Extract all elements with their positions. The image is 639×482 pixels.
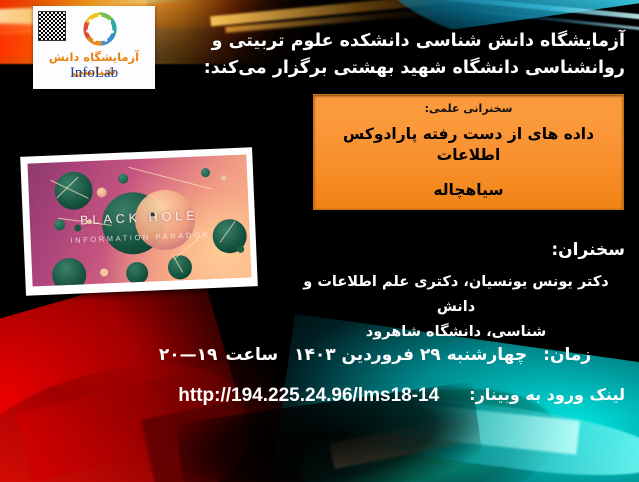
poster-headline: آزمایشگاه دانش شناسی دانشکده علوم تربیتی…: [157, 28, 625, 81]
headline-line-1: آزمایشگاه دانش شناسی دانشکده علوم تربیتی…: [157, 28, 625, 55]
talk-title-box: سخنرانی علمی: داده های از دست رفته پاراد…: [313, 94, 624, 210]
talk-title-line-1: داده های از دست رفته پارادوکس اطلاعات: [314, 124, 623, 166]
sphere-small-i: [100, 269, 108, 277]
speaker-block: سخنران: دکتر یونس یونسیان، دکتری علم اطل…: [287, 240, 625, 345]
black-hole-artwork: BLACK HOLE INFORMATION PARADOX: [27, 154, 251, 286]
talk-kicker: سخنرانی علمی:: [314, 102, 623, 115]
headline-line-2: روانشناسی دانشگاه شهید بهشتی برگزار می‌ک…: [157, 55, 625, 82]
schedule-time-label: ساعت: [225, 345, 278, 365]
webinar-link-label: لینک ورود به وبینار:: [469, 385, 625, 404]
black-hole-photo-card: BLACK HOLE INFORMATION PARADOX: [20, 147, 258, 296]
top-right-cyan-line: [409, 0, 639, 21]
bottom-dark-red-shade: [141, 366, 418, 482]
sphere-small-f: [221, 175, 226, 180]
sphere-small-h: [237, 246, 244, 253]
speaker-name-line-2: شناسی، دانشگاه شاهرود: [287, 320, 625, 345]
webinar-link-line: لینک ورود به وبینار:http://194.225.24.96…: [25, 385, 625, 407]
schedule-time: ۱۹—۲۰: [159, 345, 218, 365]
schedule-date: چهارشنبه ۲۹ فروردین ۱۴۰۳: [294, 345, 527, 365]
sphere-small-e: [201, 168, 210, 177]
qr-code-icon: [38, 11, 66, 41]
top-gold-streak: [210, 0, 510, 26]
webinar-poster: آزمایشگاه دانش شناسی InfoLab آزمایشگاه د…: [0, 0, 639, 482]
schedule-label: زمان:: [543, 345, 591, 365]
talk-title-line-2: سیاهچاله: [314, 181, 623, 199]
speaker-label: سخنران:: [287, 240, 625, 260]
infolab-logo-card: آزمایشگاه دانش شناسی InfoLab: [33, 6, 155, 89]
schedule-line: زمان:چهارشنبه ۲۹ فروردین ۱۴۰۳ساعت۱۹—۲۰: [125, 345, 625, 365]
bottom-tan-streak: [330, 401, 551, 469]
sphere-small-g: [96, 187, 106, 197]
sphere-small-d: [118, 173, 128, 183]
logo-name-en: InfoLab: [33, 65, 155, 82]
people-circle-icon: [81, 10, 119, 48]
ray-top-right: [128, 167, 211, 190]
speaker-name-line-1: دکتر یونس یونسیان، دکتری علم اطلاعات و د…: [287, 270, 625, 320]
webinar-url[interactable]: http://194.225.24.96/lms18-14: [178, 385, 439, 407]
bottom-left-red-wave: [0, 348, 261, 482]
sphere-bottom-left: [51, 257, 86, 286]
sphere-bottom-center: [126, 262, 149, 285]
